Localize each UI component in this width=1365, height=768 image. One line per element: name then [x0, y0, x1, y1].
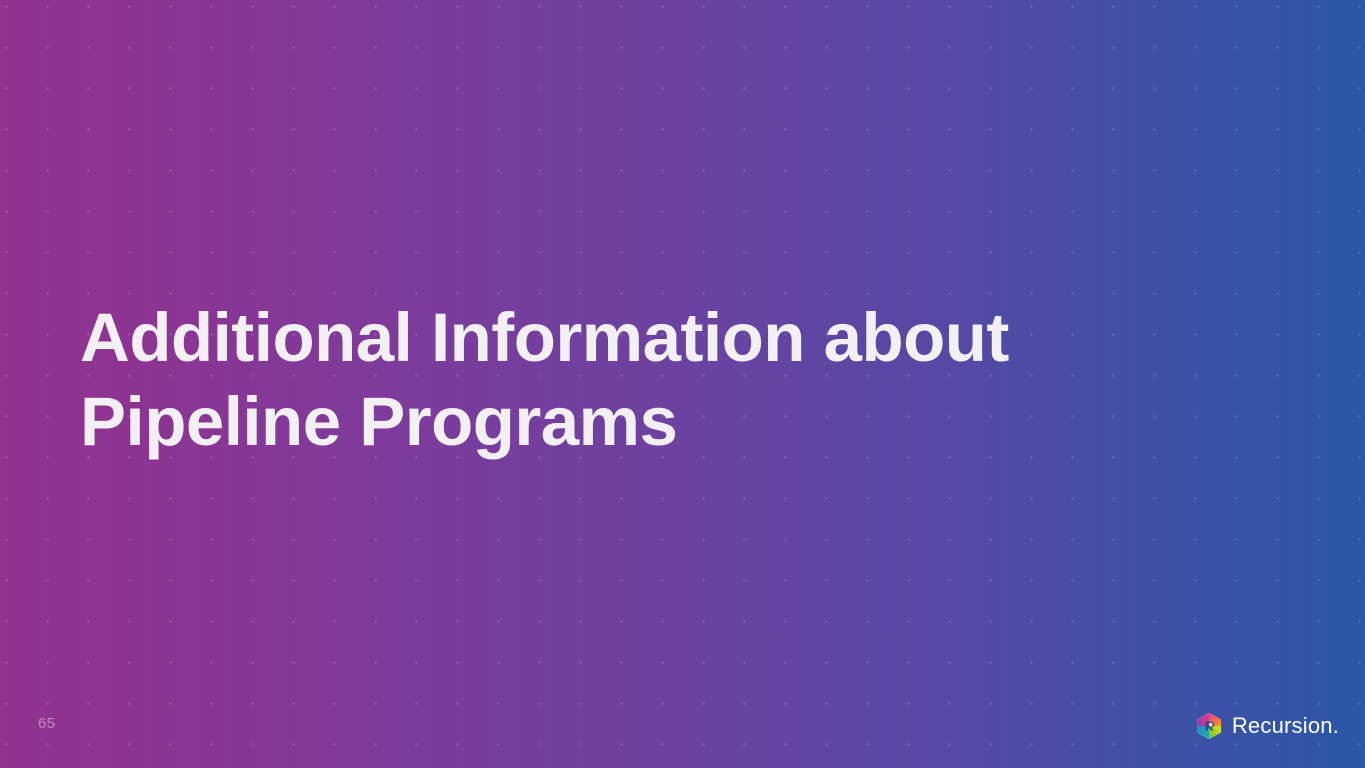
- recursion-hexagon-icon: [1195, 712, 1223, 740]
- title-line-1: Additional Information about: [80, 296, 1080, 380]
- slide-canvas: Additional Information about Pipeline Pr…: [0, 0, 1365, 768]
- recursion-wordmark: Recursion.: [1232, 715, 1339, 737]
- slide-title: Additional Information about Pipeline Pr…: [80, 296, 1080, 464]
- page-number: 65: [38, 715, 55, 732]
- recursion-logo: Recursion.: [1195, 712, 1339, 740]
- title-line-2: Pipeline Programs: [80, 380, 1080, 464]
